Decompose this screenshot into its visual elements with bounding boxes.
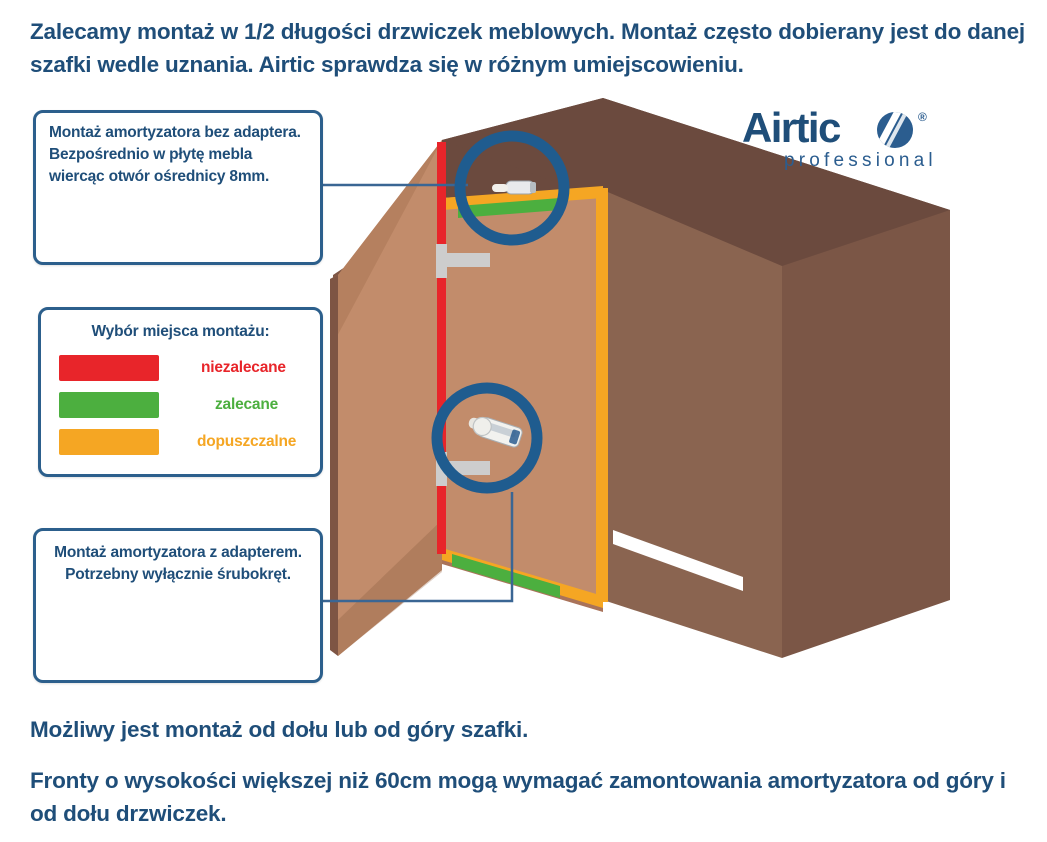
logo-wordmark: Airtic [742,106,840,150]
cabinet-front-face [603,190,782,658]
footer-paragraph-2: Fronty o wysokości większej niż 60cm mog… [30,764,1030,830]
legend-swatch-orange [59,429,159,455]
callout-mount-without-adapter: Montaż amortyzatora bez adaptera. Bezpoś… [33,110,323,265]
legend-rows: niezalecane zalecane dopuszczalne [41,349,320,460]
registered-mark: ® [918,110,927,124]
callout-adapter-title: Montaż amortyzatora z adapterem. Potrzeb… [36,531,320,586]
footer-paragraph-1: Możliwy jest montaż od dołu lub od góry … [30,713,1025,746]
legend-label-dopuszczalne: dopuszczalne [197,433,296,451]
callout-mount-with-adapter: Montaż amortyzatora z adapterem. Potrzeb… [33,528,323,683]
legend-swatch-green [59,392,159,418]
legend-label-niezalecane: niezalecane [201,359,286,377]
airtic-sphere-icon [877,112,913,148]
infographic-page: Zalecamy montaż w 1/2 długości drzwiczek… [0,0,1047,842]
legend-label-zalecane: zalecane [215,396,278,414]
legend-row-zalecane: zalecane [41,386,320,423]
zone-red-door-edge [437,142,446,554]
zone-orange-front-post [596,188,608,602]
intro-paragraph: Zalecamy montaż w 1/2 długości drzwiczek… [30,15,1025,81]
legend-row-dopuszczalne: dopuszczalne [41,423,320,460]
logo-subtitle: professional [784,150,937,172]
legend-row-niezalecane: niezalecane [41,349,320,386]
legend-title: Wybór miejsca montażu: [41,310,320,343]
callout-legend: Wybór miejsca montażu: niezalecane zalec… [38,307,323,477]
legend-swatch-red [59,355,159,381]
airtic-logo: Airtic ® professional [742,106,942,178]
cabinet-right-side [782,210,950,658]
door-panel-left-edge [330,275,338,656]
callout-drill-title: Montaż amortyzatora bez adaptera. Bezpoś… [36,113,320,188]
